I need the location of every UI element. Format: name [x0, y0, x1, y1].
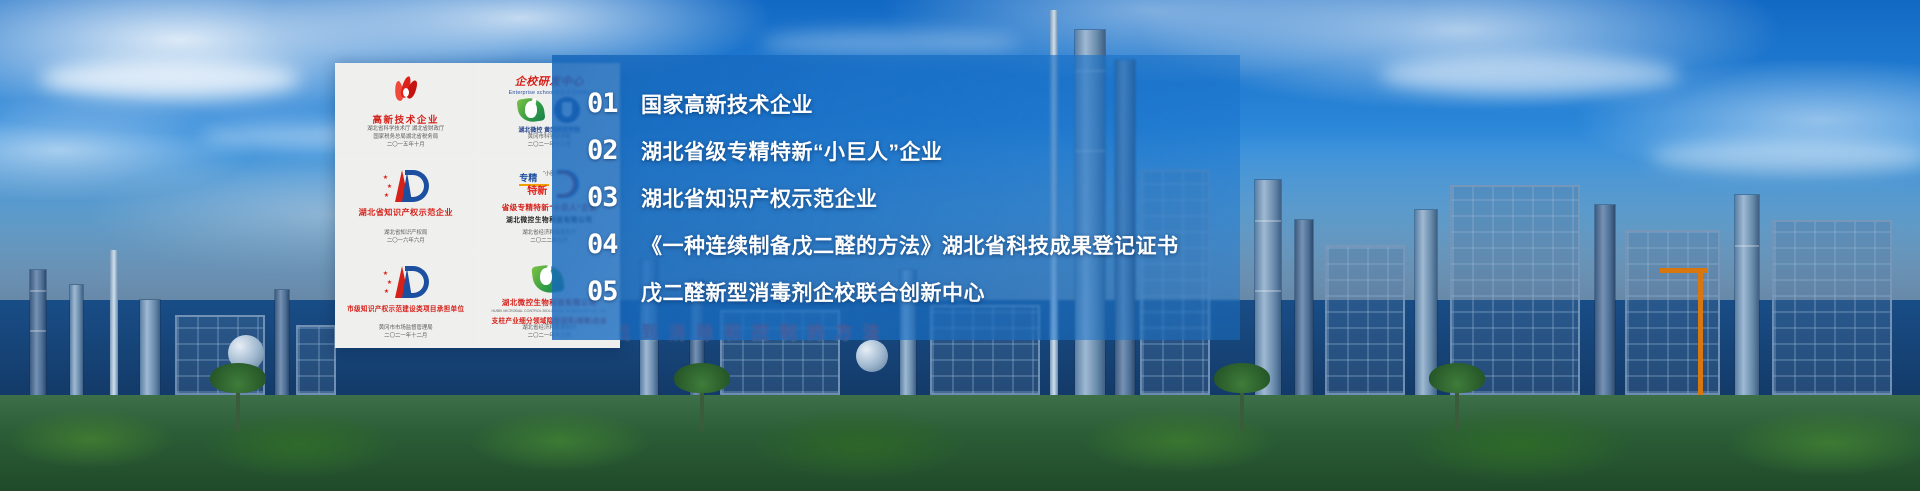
certificate-title: 湖北省知识产权示范企业	[359, 206, 453, 218]
honor-text: 《一种连续制备戊二醛的方法》湖北省科技成果登记证书	[641, 230, 1179, 260]
honor-text: 戊二醛新型消毒剂企校联合创新中心	[641, 277, 985, 307]
foreground-greenery	[0, 395, 1920, 491]
certificate-card[interactable]: ★ ★ ★ 市级知识产权示范建设类项目承担单位 黄冈市市场监督管理局 二〇二一年…	[335, 254, 477, 348]
ip-sail-logo: ★ ★ ★	[383, 167, 429, 205]
list-item[interactable]: 02 湖北省级专精特新“小巨人”企业	[587, 128, 1230, 173]
certificate-footer: 黄冈市市场监督管理局 二〇二一年十二月	[379, 325, 433, 344]
honor-number: 03	[587, 182, 641, 213]
ip-sail-logo: ★ ★ ★	[383, 262, 429, 302]
certificate-footer: 湖北省知识产权局 二〇一六年六月	[384, 230, 427, 249]
list-item[interactable]: 05 戊二醛新型消毒剂企校联合创新中心	[587, 269, 1230, 314]
honors-panel: 01 国家高新技术企业 02 湖北省级专精特新“小巨人”企业 03 湖北省知识产…	[552, 55, 1240, 340]
list-item[interactable]: 03 湖北省知识产权示范企业	[587, 175, 1230, 220]
honor-number: 04	[587, 229, 641, 260]
list-item[interactable]: 01 国家高新技术企业	[587, 81, 1230, 126]
honors-list: 01 国家高新技术企业 02 湖北省级专精特新“小巨人”企业 03 湖北省知识产…	[587, 81, 1230, 316]
certificate-title: 市级知识产权示范建设类项目承担单位	[347, 303, 464, 313]
banner-stage: 全 可 以 找 到 消 除 和 控 制 的 方 法 高新技术企业 湖北省科学技术…	[0, 0, 1920, 491]
certificate-title: 高新技术企业	[372, 112, 439, 126]
honor-number: 02	[587, 135, 641, 166]
honor-text: 湖北省知识产权示范企业	[641, 183, 878, 213]
honor-number: 01	[587, 88, 641, 119]
honor-text: 国家高新技术企业	[641, 89, 813, 119]
honor-text: 湖北省级专精特新“小巨人”企业	[641, 136, 943, 166]
flame-logo	[393, 71, 419, 111]
honor-number: 05	[587, 276, 641, 307]
certificate-card[interactable]: ★ ★ ★ 湖北省知识产权示范企业 湖北省知识产权局 二〇一六年六月	[335, 159, 477, 253]
certificate-card[interactable]: 高新技术企业 湖北省科学技术厅 湖北省财政厅 国家税务总局湖北省税务局 二〇一五…	[335, 63, 477, 157]
list-item[interactable]: 04 《一种连续制备戊二醛的方法》湖北省科技成果登记证书	[587, 222, 1230, 267]
certificate-footer: 湖北省科学技术厅 湖北省财政厅 国家税务总局湖北省税务局 二〇一五年十月	[367, 126, 444, 152]
